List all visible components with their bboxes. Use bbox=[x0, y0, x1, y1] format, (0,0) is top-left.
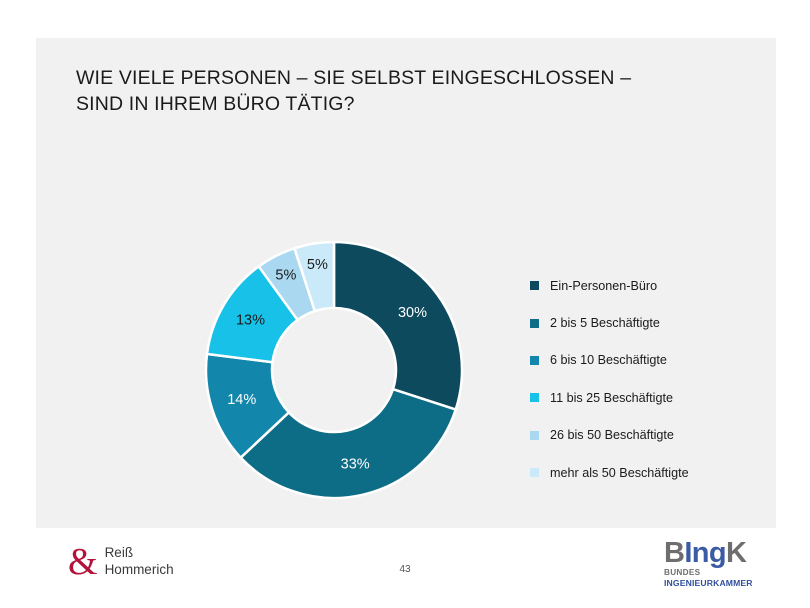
legend-swatch-icon bbox=[530, 468, 539, 477]
legend-item-label: Ein-Personen-Büro bbox=[550, 279, 657, 293]
legend-swatch-icon bbox=[530, 393, 539, 402]
chart-legend: Ein-Personen-Büro2 bis 5 Beschäftigte6 b… bbox=[530, 267, 780, 491]
legend-swatch-icon bbox=[530, 356, 539, 365]
logo-bingk-k: K bbox=[726, 537, 746, 569]
legend-item-label: mehr als 50 Beschäftigte bbox=[550, 466, 689, 480]
logo-bingk: BIngK BUNDES INGENIEURKAMMER bbox=[664, 538, 774, 589]
logo-bingk-ing: Ing bbox=[684, 537, 726, 569]
logo-bingk-b: B bbox=[664, 537, 684, 569]
donut-slice-label: 5% bbox=[275, 267, 296, 283]
slide-footer: & Reiß Hommerich 43 BIngK BUNDES INGENIE… bbox=[0, 528, 810, 608]
legend-item-label: 6 bis 10 Beschäftigte bbox=[550, 353, 667, 367]
donut-slice-label: 33% bbox=[341, 456, 370, 472]
logo-bingk-wordmark: BIngK bbox=[664, 538, 774, 568]
legend-item-label: 26 bis 50 Beschäftigte bbox=[550, 428, 674, 442]
donut-slice[interactable] bbox=[334, 242, 462, 410]
legend-item-label: 2 bis 5 Beschäftigte bbox=[550, 316, 660, 330]
legend-item[interactable]: 6 bis 10 Beschäftigte bbox=[530, 342, 780, 379]
donut-slice-label: 14% bbox=[227, 392, 256, 408]
legend-swatch-icon bbox=[530, 431, 539, 440]
donut-slice-label: 30% bbox=[398, 305, 427, 321]
donut-slice-label: 5% bbox=[307, 257, 328, 273]
legend-item-label: 11 bis 25 Beschäftigte bbox=[550, 391, 673, 405]
logo-bingk-subtitle-ingenieurkammer: INGENIEURKAMMER bbox=[664, 578, 774, 589]
legend-item[interactable]: Ein-Personen-Büro bbox=[530, 267, 780, 304]
donut-chart-svg: 30%33%14%13%5%5% bbox=[160, 198, 510, 528]
legend-item[interactable]: 2 bis 5 Beschäftigte bbox=[530, 304, 780, 341]
logo-bingk-subtitle-bundes: BUNDES bbox=[664, 568, 774, 578]
legend-item[interactable]: 26 bis 50 Beschäftigte bbox=[530, 417, 780, 454]
legend-item[interactable]: 11 bis 25 Beschäftigte bbox=[530, 379, 780, 416]
legend-swatch-icon bbox=[530, 319, 539, 328]
page-title: WIE VIELE PERSONEN – SIE SELBST EINGESCH… bbox=[76, 65, 736, 117]
legend-item[interactable]: mehr als 50 Beschäftigte bbox=[530, 454, 780, 491]
legend-swatch-icon bbox=[530, 281, 539, 290]
donut-chart: 30%33%14%13%5%5% bbox=[160, 198, 510, 528]
donut-slice-group bbox=[206, 242, 462, 498]
donut-slice-label: 13% bbox=[236, 312, 265, 328]
slide-card: WIE VIELE PERSONEN – SIE SELBST EINGESCH… bbox=[36, 38, 776, 528]
